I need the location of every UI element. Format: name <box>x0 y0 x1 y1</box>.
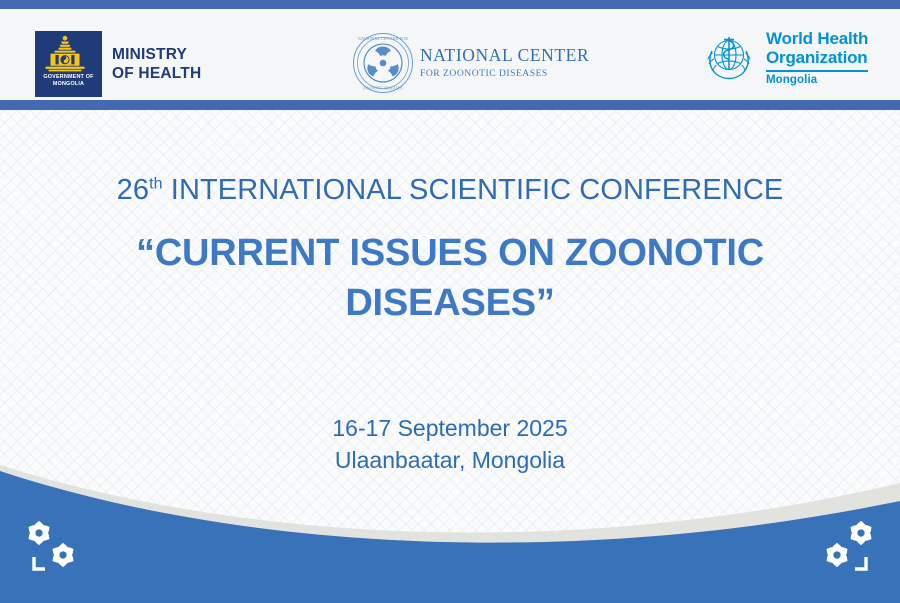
mongolia-state-emblem: GOVERNMENT OF MONGOLIA <box>35 31 102 97</box>
who-name-line2: Organization <box>766 48 868 67</box>
conference-label: INTERNATIONAL SCIENTIFIC CONFERENCE <box>163 174 784 206</box>
ministry-of-health-logo: GOVERNMENT OF MONGOLIA MINISTRY OF HEALT… <box>35 31 201 97</box>
nczd-wordmark: NATIONAL CENTER FOR ZOONOTIC DISEASES <box>420 47 589 78</box>
header-divider-bar <box>0 100 900 110</box>
emblem-caption: GOVERNMENT OF MONGOLIA <box>35 74 102 88</box>
conference-theme-title: “CURRENT ISSUES ON ZOONOTIC DISEASES” <box>0 228 900 328</box>
ministry-of-health-name: MINISTRY OF HEALTH <box>112 45 201 83</box>
svg-text:ZOONOTIC DISEASES: ZOONOTIC DISEASES <box>363 87 402 91</box>
who-wordmark: World Health Organization Mongolia <box>766 29 868 86</box>
emblem-caption-line1: GOVERNMENT OF <box>35 74 102 81</box>
who-emblem-icon <box>700 29 758 87</box>
seal-year: 1931 <box>380 80 387 84</box>
ministry-name-line2: OF HEALTH <box>112 64 201 83</box>
title-block: 26th INTERNATIONAL SCIENTIFIC CONFERENCE… <box>0 174 900 328</box>
svg-text:NATIONAL CENTER FOR: NATIONAL CENTER FOR <box>358 36 408 41</box>
nczd-name-line2: FOR ZOONOTIC DISEASES <box>420 69 589 79</box>
nczd-name-line1: NATIONAL CENTER <box>420 47 589 65</box>
footer-wave <box>0 443 900 603</box>
conference-number: 26 <box>117 174 149 206</box>
mongolian-knot-ornament-left <box>18 517 90 579</box>
national-center-zoonotic-diseases-logo: NATIONAL CENTER FOR ZOONOTIC DISEASES 19… <box>352 32 589 94</box>
top-accent-bar <box>0 0 900 9</box>
conference-theme-line1: “CURRENT ISSUES ON ZOONOTIC <box>70 228 830 278</box>
who-country-label: Mongolia <box>766 74 868 86</box>
conference-ordinal-suffix: th <box>149 175 163 192</box>
emblem-caption-line2: MONGOLIA <box>35 81 102 88</box>
who-divider <box>766 70 868 72</box>
who-logo: World Health Organization Mongolia <box>700 29 868 87</box>
nczd-seal-icon: NATIONAL CENTER FOR ZOONOTIC DISEASES 19… <box>352 32 414 94</box>
conference-edition-line: 26th INTERNATIONAL SCIENTIFIC CONFERENCE <box>0 174 900 207</box>
soyombo-icon <box>35 35 95 73</box>
conference-title-slide: GOVERNMENT OF MONGOLIA MINISTRY OF HEALT… <box>0 0 900 603</box>
header-logo-band: GOVERNMENT OF MONGOLIA MINISTRY OF HEALT… <box>0 9 900 100</box>
mongolian-knot-ornament-right <box>810 517 882 579</box>
who-name-line1: World Health <box>766 29 868 48</box>
conference-date: 16-17 September 2025 <box>0 412 900 444</box>
ministry-name-line1: MINISTRY <box>112 45 201 64</box>
conference-theme-line2: DISEASES” <box>70 278 830 328</box>
